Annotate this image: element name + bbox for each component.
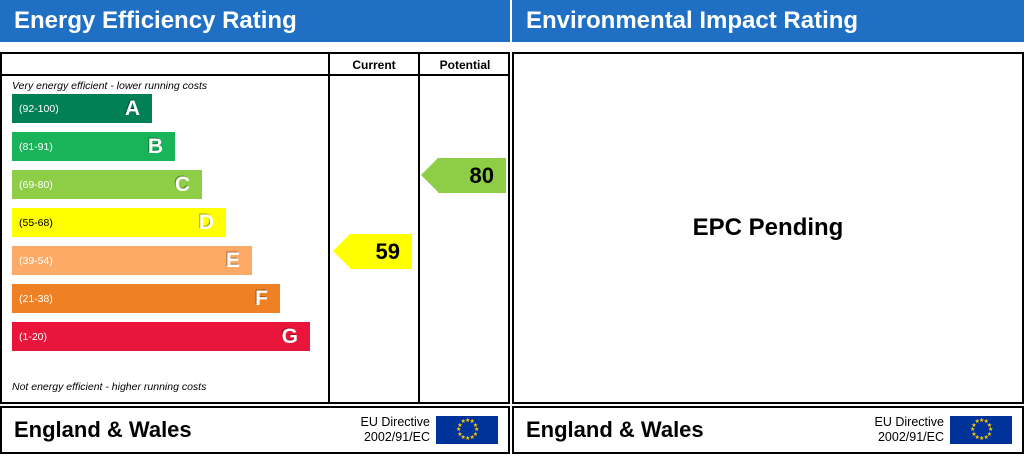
rating-band-e: (39-54)E — [12, 246, 252, 275]
rating-band-a: (92-100)A — [12, 94, 152, 123]
potential-rating-arrow-value: 80 — [470, 163, 506, 189]
rating-band-letter-e: E — [226, 249, 240, 273]
rating-bands: (92-100)A(81-91)B(69-80)C(55-68)D(39-54)… — [2, 94, 328, 394]
energy-efficiency-header: Energy Efficiency Rating — [0, 0, 510, 42]
rating-band-range-c: (69-80) — [12, 179, 53, 191]
rating-band-range-g: (1-20) — [12, 331, 47, 343]
energy-efficiency-header-label: Energy Efficiency Rating — [0, 7, 297, 35]
rating-band-range-b: (81-91) — [12, 141, 53, 153]
rating-band-range-a: (92-100) — [12, 103, 59, 115]
rating-band-letter-a: A — [125, 97, 140, 121]
column-separator-2 — [418, 54, 420, 402]
rating-band-b: (81-91)B — [12, 132, 175, 161]
current-rating-arrow-point — [333, 234, 350, 268]
caption-top: Very energy efficient - lower running co… — [12, 80, 207, 92]
rating-band-letter-b: B — [148, 135, 163, 159]
rating-band-range-f: (21-38) — [12, 293, 53, 305]
environmental-impact-panel: EPC Pending — [512, 52, 1024, 404]
eu-star-icon: ★ — [461, 420, 465, 424]
rating-band-letter-c: C — [175, 173, 190, 197]
current-rating-arrow-value: 59 — [376, 239, 412, 265]
footer-left: England & Wales EU Directive 2002/91/EC … — [0, 406, 510, 454]
rating-band-letter-f: F — [255, 287, 268, 311]
rating-band-d: (55-68)D — [12, 208, 226, 237]
potential-rating-arrow: 80 — [438, 158, 506, 193]
rating-band-range-e: (39-54) — [12, 255, 53, 267]
footer-country-left: England & Wales — [14, 417, 192, 443]
rating-band-c: (69-80)C — [12, 170, 202, 199]
potential-rating-arrow-point — [421, 158, 438, 192]
epc-chart: Energy Efficiency Rating Environmental I… — [0, 0, 1024, 457]
eu-flag-left-icon: ★★★★★★★★★★★★ — [436, 416, 498, 444]
environmental-impact-header-label: Environmental Impact Rating — [512, 7, 858, 35]
footer-directive-line2-right: 2002/91/EC — [875, 430, 944, 445]
eu-star-icon: ★ — [970, 428, 974, 432]
rating-band-f: (21-38)F — [12, 284, 280, 313]
footer-directive-left: EU Directive 2002/91/EC — [361, 415, 430, 445]
environmental-impact-header: Environmental Impact Rating — [512, 0, 1024, 42]
rating-band-g: (1-20)G — [12, 322, 310, 351]
footer-country-right: England & Wales — [526, 417, 704, 443]
eu-stars-right: ★★★★★★★★★★★★ — [950, 416, 1012, 444]
eu-star-icon: ★ — [456, 428, 460, 432]
rating-band-range-d: (55-68) — [12, 217, 53, 229]
eu-stars-left: ★★★★★★★★★★★★ — [436, 416, 498, 444]
energy-efficiency-panel: Current Potential Very energy efficient … — [0, 52, 510, 404]
eu-star-icon: ★ — [457, 433, 461, 437]
eu-flag-right-icon: ★★★★★★★★★★★★ — [950, 416, 1012, 444]
eu-star-icon: ★ — [470, 436, 474, 440]
column-header-potential: Potential — [420, 56, 510, 74]
column-header-current: Current — [330, 56, 418, 74]
epc-pending-message: EPC Pending — [693, 214, 844, 242]
rating-band-letter-d: D — [199, 211, 214, 235]
eu-star-icon: ★ — [971, 433, 975, 437]
footer-directive-right: EU Directive 2002/91/EC — [875, 415, 944, 445]
column-separator-1 — [328, 54, 330, 402]
footer-directive-line2-left: 2002/91/EC — [361, 430, 430, 445]
eu-star-icon: ★ — [975, 420, 979, 424]
footer-right: England & Wales EU Directive 2002/91/EC … — [512, 406, 1024, 454]
current-rating-arrow: 59 — [350, 234, 412, 269]
eu-star-icon: ★ — [984, 436, 988, 440]
footer-directive-line1-right: EU Directive — [875, 415, 944, 430]
rating-band-letter-g: G — [282, 325, 298, 349]
footer-directive-line1-left: EU Directive — [361, 415, 430, 430]
